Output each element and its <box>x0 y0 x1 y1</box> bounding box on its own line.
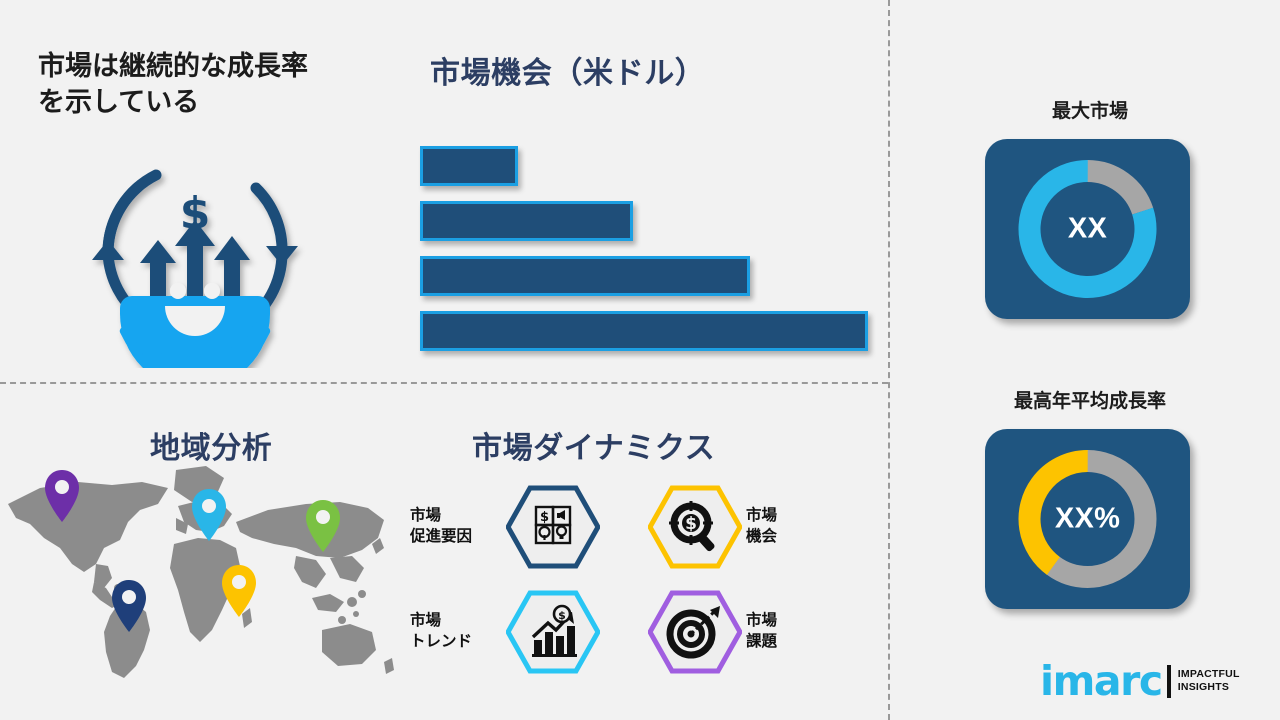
dynamics-panel-title: 市場ダイナミクス <box>472 423 715 467</box>
largest-market-heading: 最大市場 <box>955 96 1225 123</box>
dynamics-item-trends[interactable]: 市場 トレンド $ <box>410 590 600 674</box>
growth-panel-title: 市場は継続的な成長率 を示している <box>38 48 388 121</box>
svg-text:$: $ <box>685 514 697 534</box>
pin-south-america <box>109 578 149 639</box>
horizontal-divider <box>0 382 888 384</box>
bar-4 <box>420 311 868 351</box>
highest-cagr-donut-card: XX% <box>985 429 1190 609</box>
imarc-wordmark: imarc <box>1040 661 1162 702</box>
svg-text:$: $ <box>558 609 566 622</box>
vertical-divider <box>888 0 890 720</box>
pin-east-africa <box>219 563 259 624</box>
target-dart-icon <box>648 590 742 674</box>
largest-market-value: XX <box>985 213 1190 246</box>
svg-text:$: $ <box>540 510 549 525</box>
logo-divider <box>1167 665 1171 698</box>
dynamics-item-drivers-label: 市場 促進要因 <box>410 506 502 547</box>
market-opportunity-bar-chart <box>420 146 880 351</box>
highest-cagr-value: XX% <box>985 503 1190 536</box>
slide-canvas: 市場は継続的な成長率 を示している $ <box>0 0 1280 720</box>
bar-chart-arrow-dollar-icon: $ <box>506 590 600 674</box>
magnifier-dollar-target-icon: $ <box>648 485 742 569</box>
largest-market-donut-card: XX <box>985 139 1190 319</box>
dynamics-item-opportunities[interactable]: $ 市場 機会 <box>648 485 838 569</box>
pin-east-asia <box>303 498 343 559</box>
dynamics-item-trends-label: 市場 トレンド <box>410 611 502 652</box>
highest-cagr-heading: 最高年平均成長率 <box>955 386 1225 413</box>
imarc-logo[interactable]: imarc IMPACTFUL INSIGHTS <box>1040 658 1255 704</box>
bar-1 <box>420 146 518 186</box>
bar-3 <box>420 256 750 296</box>
pin-north-america <box>42 468 82 529</box>
puzzle-pieces-icon: $ <box>506 485 600 569</box>
opportunity-panel-title: 市場機会（米ドル） <box>430 48 850 92</box>
dynamics-item-challenges-label: 市場 課題 <box>746 611 838 652</box>
bar-2 <box>420 201 633 241</box>
imarc-tagline: IMPACTFUL INSIGHTS <box>1178 668 1240 694</box>
dynamics-item-opportunities-label: 市場 機会 <box>746 506 838 547</box>
growth-cycle-gear-dollar-icon: $ <box>70 128 320 368</box>
pin-europe <box>189 487 229 548</box>
dynamics-item-challenges[interactable]: 市場 課題 <box>648 590 838 674</box>
dynamics-item-drivers[interactable]: 市場 促進要因 $ <box>410 485 600 569</box>
